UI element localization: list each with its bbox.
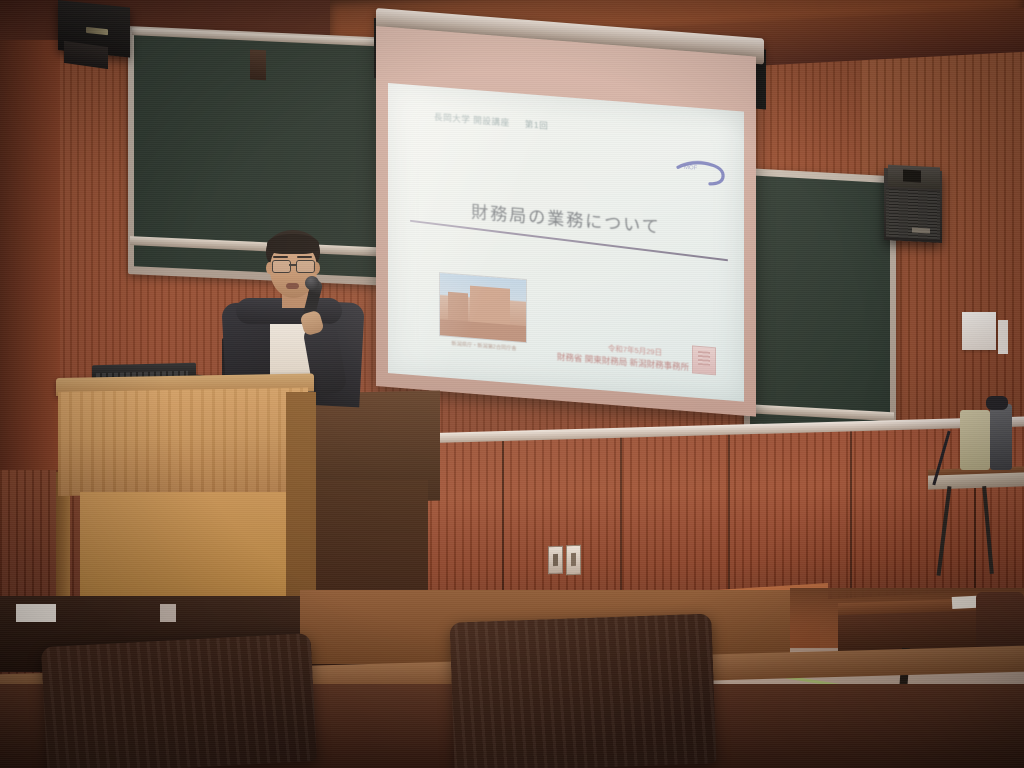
wall-outlet-right[interactable] bbox=[566, 545, 581, 575]
mof-swoosh-logo: MOF bbox=[674, 154, 730, 189]
chalkboard-surface-right bbox=[750, 175, 890, 441]
slide-title: 財務局の業務について bbox=[388, 191, 744, 245]
panel-seam bbox=[850, 431, 852, 611]
speaker-right-badge-icon bbox=[912, 228, 930, 234]
lecture-hall-photo: 長岡大学 開設講座 第1回 MOF 財務局の業務について 新潟県庁・新潟第2合同… bbox=[0, 0, 1024, 768]
wall-outlet-left[interactable] bbox=[548, 546, 563, 574]
hair-front bbox=[267, 234, 319, 254]
speaker-right-port bbox=[903, 170, 921, 183]
wall-notice-paper bbox=[962, 312, 996, 350]
green-chalkboard-right bbox=[744, 168, 896, 450]
audience-chair-left bbox=[41, 633, 317, 768]
slide-header-session: 第1回 bbox=[525, 119, 549, 131]
equipment-bag-dark bbox=[990, 404, 1012, 470]
eyeglasses-lens-right bbox=[296, 260, 315, 273]
projected-slide: 長岡大学 開設講座 第1回 MOF 財務局の業務について 新潟県庁・新潟第2合同… bbox=[388, 83, 744, 402]
panel-seam bbox=[728, 435, 730, 615]
wall-notice-paper-secondary bbox=[998, 320, 1008, 354]
equipment-bag-beige bbox=[960, 410, 990, 470]
outlet-socket-icon bbox=[553, 554, 558, 566]
slide-building-photo bbox=[440, 273, 526, 342]
pull-down-projection-screen: 長岡大学 開設講座 第1回 MOF 財務局の業務について 新潟県庁・新潟第2合同… bbox=[376, 26, 756, 417]
photo-foreground-band bbox=[440, 319, 526, 342]
svg-text:MOF: MOF bbox=[684, 165, 698, 172]
outlet-socket-icon bbox=[571, 553, 576, 566]
ministry-seal-icon bbox=[692, 345, 716, 375]
mouth bbox=[286, 283, 299, 289]
slide-header: 長岡大学 開設講座 第1回 bbox=[434, 111, 548, 132]
chalkboard-mount-bracket bbox=[250, 50, 266, 81]
desk-paper-note bbox=[16, 604, 56, 622]
audience-chair-center bbox=[449, 613, 716, 768]
speaker-brand-badge-icon bbox=[86, 27, 108, 35]
desk-paper-note-secondary bbox=[160, 604, 176, 622]
eyeglasses-lens-left bbox=[272, 260, 291, 273]
slide-header-series: 長岡大学 開設講座 bbox=[434, 112, 510, 128]
wooden-lectern bbox=[58, 388, 308, 496]
bag-strap bbox=[986, 396, 1008, 410]
eyeglasses-bridge bbox=[289, 264, 297, 266]
seal-inner-pattern bbox=[698, 351, 710, 366]
